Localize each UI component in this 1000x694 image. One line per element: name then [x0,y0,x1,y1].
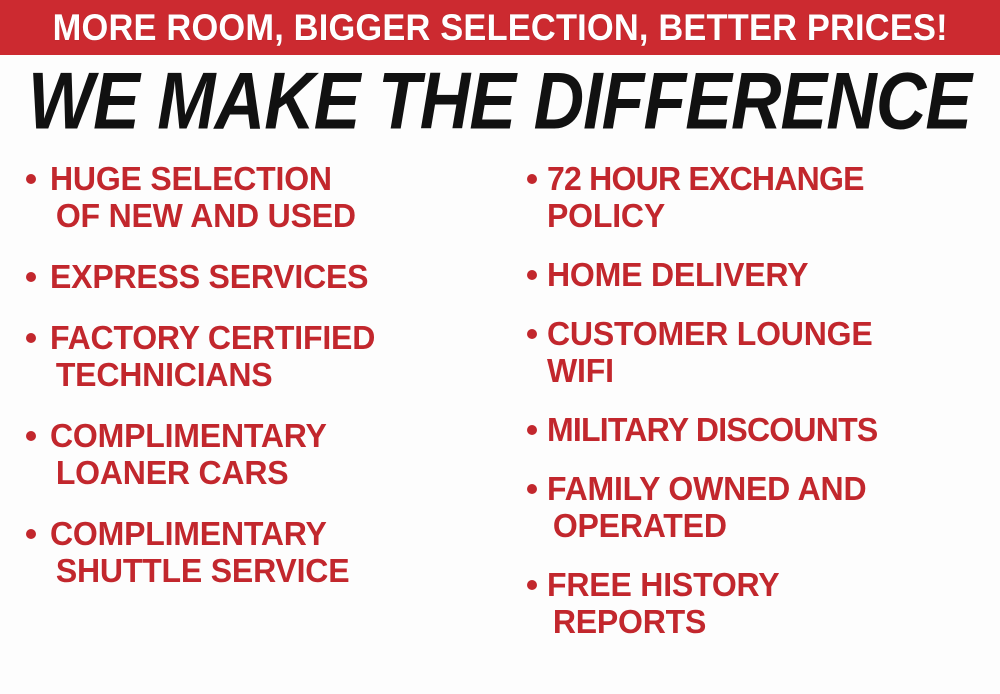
list-item-text: HOME DELIVERY [547,256,1000,293]
list-item-text: COMPLIMENTARY LOANER CARS [50,417,500,491]
promo-poster: MORE ROOM, BIGGER SELECTION, BETTER PRIC… [0,0,1000,694]
bullet-dot-icon [26,333,36,343]
benefits-column-right: 72 HOUR EXCHANGE POLICY HOME DELIVERY CU… [515,160,1000,694]
list-item: COMPLIMENTARY SHUTTLE SERVICE [18,515,500,589]
list-item-line: OPERATED [547,507,986,544]
bullet-dot-icon [26,174,36,184]
benefits-columns: HUGE SELECTION OF NEW AND USED EXPRESS S… [0,160,1000,694]
list-item: FACTORY CERTIFIED TECHNICIANS [18,319,500,393]
list-item-text: COMPLIMENTARY SHUTTLE SERVICE [50,515,500,589]
list-item-line: OF NEW AND USED [50,197,487,234]
bullet-dot-icon [26,431,36,441]
list-item-text: 72 HOUR EXCHANGE POLICY [547,160,1000,234]
list-item-line: FACTORY CERTIFIED [50,319,487,356]
bullet-dot-icon [527,270,537,280]
list-item-text: EXPRESS SERVICES [50,258,500,295]
bullet-dot-icon [527,484,537,494]
list-item-line: COMPLIMENTARY [50,417,487,454]
list-item-text: FREE HISTORY REPORTS [547,566,1000,640]
list-item-line: FAMILY OWNED AND [547,470,986,507]
list-item: EXPRESS SERVICES [18,258,500,295]
bullet-dot-icon [527,174,537,184]
list-item: COMPLIMENTARY LOANER CARS [18,417,500,491]
list-item: HUGE SELECTION OF NEW AND USED [18,160,500,234]
list-item-line: HOME DELIVERY [547,256,986,293]
list-item-line: TECHNICIANS [50,356,487,393]
list-item-line: COMPLIMENTARY [50,515,487,552]
list-item: FAMILY OWNED AND OPERATED [515,470,1000,544]
list-item-text: MILITARY DISCOUNTS [547,411,1000,448]
list-item-line: SHUTTLE SERVICE [50,552,487,589]
list-item-line: EXPRESS SERVICES [50,258,487,295]
list-item-line: HUGE SELECTION [50,160,487,197]
list-item-line: 72 HOUR EXCHANGE [547,160,986,197]
list-item: 72 HOUR EXCHANGE POLICY [515,160,1000,234]
list-item-text: FAMILY OWNED AND OPERATED [547,470,1000,544]
list-item-line: REPORTS [547,603,986,640]
benefits-column-left: HUGE SELECTION OF NEW AND USED EXPRESS S… [18,160,500,694]
list-item-line: LOANER CARS [50,454,487,491]
main-headline-container: WE MAKE THE DIFFERENCE [0,58,1000,146]
page-title: WE MAKE THE DIFFERENCE [28,62,971,143]
list-item-line: POLICY [547,197,986,234]
list-item: CUSTOMER LOUNGE WIFI [515,315,1000,389]
banner-headline-text: MORE ROOM, BIGGER SELECTION, BETTER PRIC… [52,9,947,46]
bullet-dot-icon [527,580,537,590]
bullet-dot-icon [26,272,36,282]
bullet-dot-icon [527,425,537,435]
list-item-line: CUSTOMER LOUNGE [547,315,986,352]
list-item: FREE HISTORY REPORTS [515,566,1000,640]
bullet-dot-icon [26,529,36,539]
list-item-line: MILITARY DISCOUNTS [547,411,986,448]
list-item: HOME DELIVERY [515,256,1000,293]
list-item-text: HUGE SELECTION OF NEW AND USED [50,160,500,234]
list-item-line: FREE HISTORY [547,566,986,603]
top-banner: MORE ROOM, BIGGER SELECTION, BETTER PRIC… [0,0,1000,55]
list-item: MILITARY DISCOUNTS [515,411,1000,448]
list-item-text: CUSTOMER LOUNGE WIFI [547,315,1000,389]
bullet-dot-icon [527,329,537,339]
list-item-line: WIFI [547,352,986,389]
list-item-text: FACTORY CERTIFIED TECHNICIANS [50,319,500,393]
